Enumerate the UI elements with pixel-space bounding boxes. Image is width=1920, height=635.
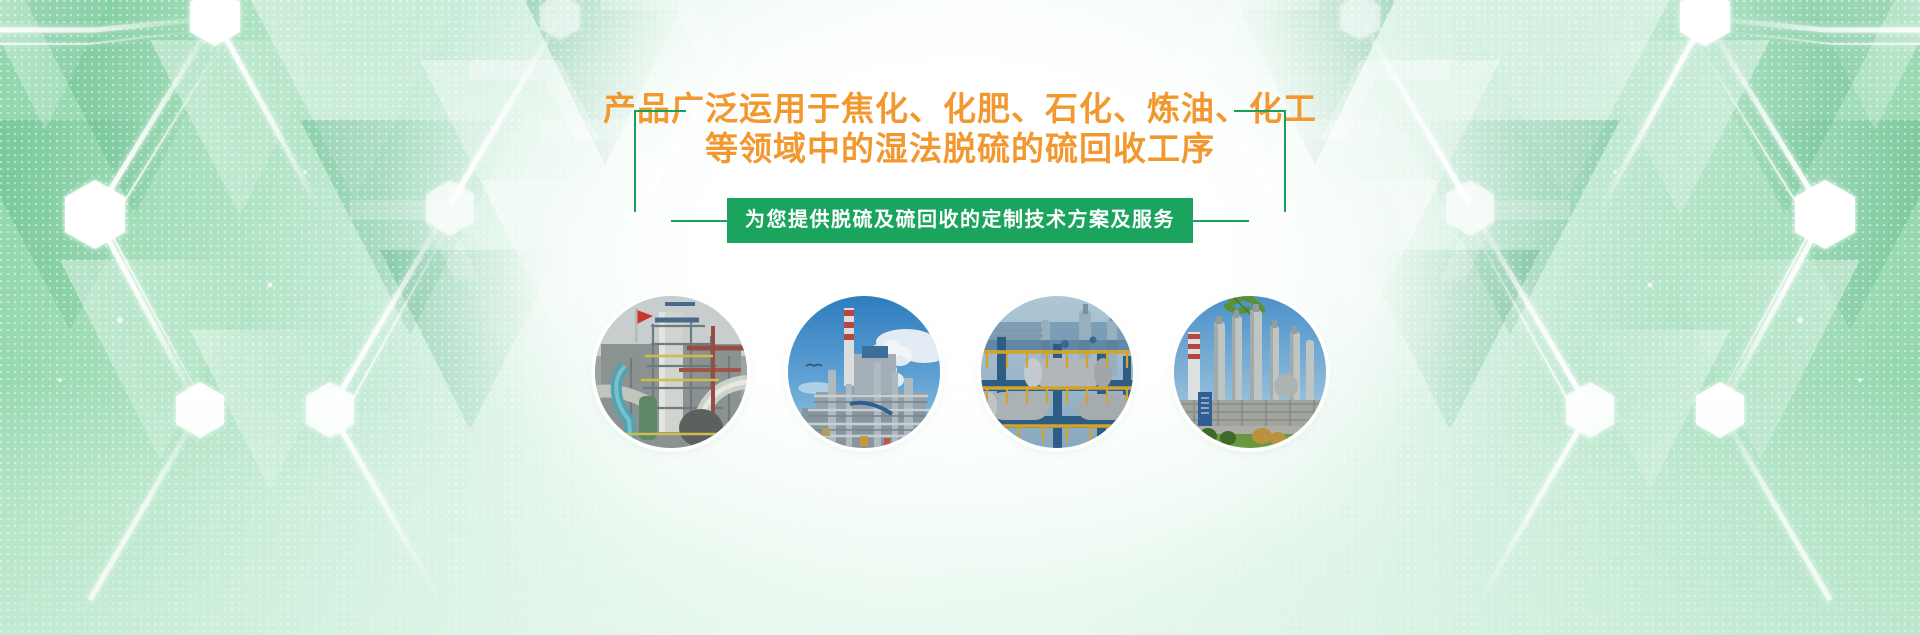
- page-title: 产品广泛运用于焦化、化肥、石化、炼油、化工 等领域中的湿法脱硫的硫回收工序: [599, 89, 1321, 169]
- photo-refinery-smokestack[interactable]: [788, 296, 940, 448]
- hero-banner: 产品广泛运用于焦化、化肥、石化、炼油、化工 等领域中的湿法脱硫的硫回收工序 为您…: [0, 0, 1920, 635]
- headline-block: 产品广泛运用于焦化、化肥、石化、炼油、化工 等领域中的湿法脱硫的硫回收工序: [0, 110, 1920, 169]
- headline-bracket-frame: 产品广泛运用于焦化、化肥、石化、炼油、化工 等领域中的湿法脱硫的硫回收工序: [634, 110, 1286, 169]
- bracket-arm-left: [634, 110, 686, 212]
- headline-line-1: 产品广泛运用于焦化、化肥、石化、炼油、化工: [603, 90, 1317, 127]
- headline-line-2: 等领域中的湿法脱硫的硫回收工序: [603, 129, 1317, 169]
- photo-gallery: [0, 296, 1920, 448]
- bracket-arm-right: [1234, 110, 1286, 212]
- photo-sulfur-recovery-vessels[interactable]: [981, 296, 1133, 448]
- subtitle-block: 为您提供脱硫及硫回收的定制技术方案及服务: [0, 198, 1920, 243]
- subtitle-banner: 为您提供脱硫及硫回收的定制技术方案及服务: [727, 198, 1193, 243]
- photo-desulfurization-plant-piping[interactable]: [595, 296, 747, 448]
- subtitle-line-right: [1193, 220, 1249, 222]
- subtitle-line-left: [671, 220, 727, 222]
- photo-refinery-distillation-columns[interactable]: [1174, 296, 1326, 448]
